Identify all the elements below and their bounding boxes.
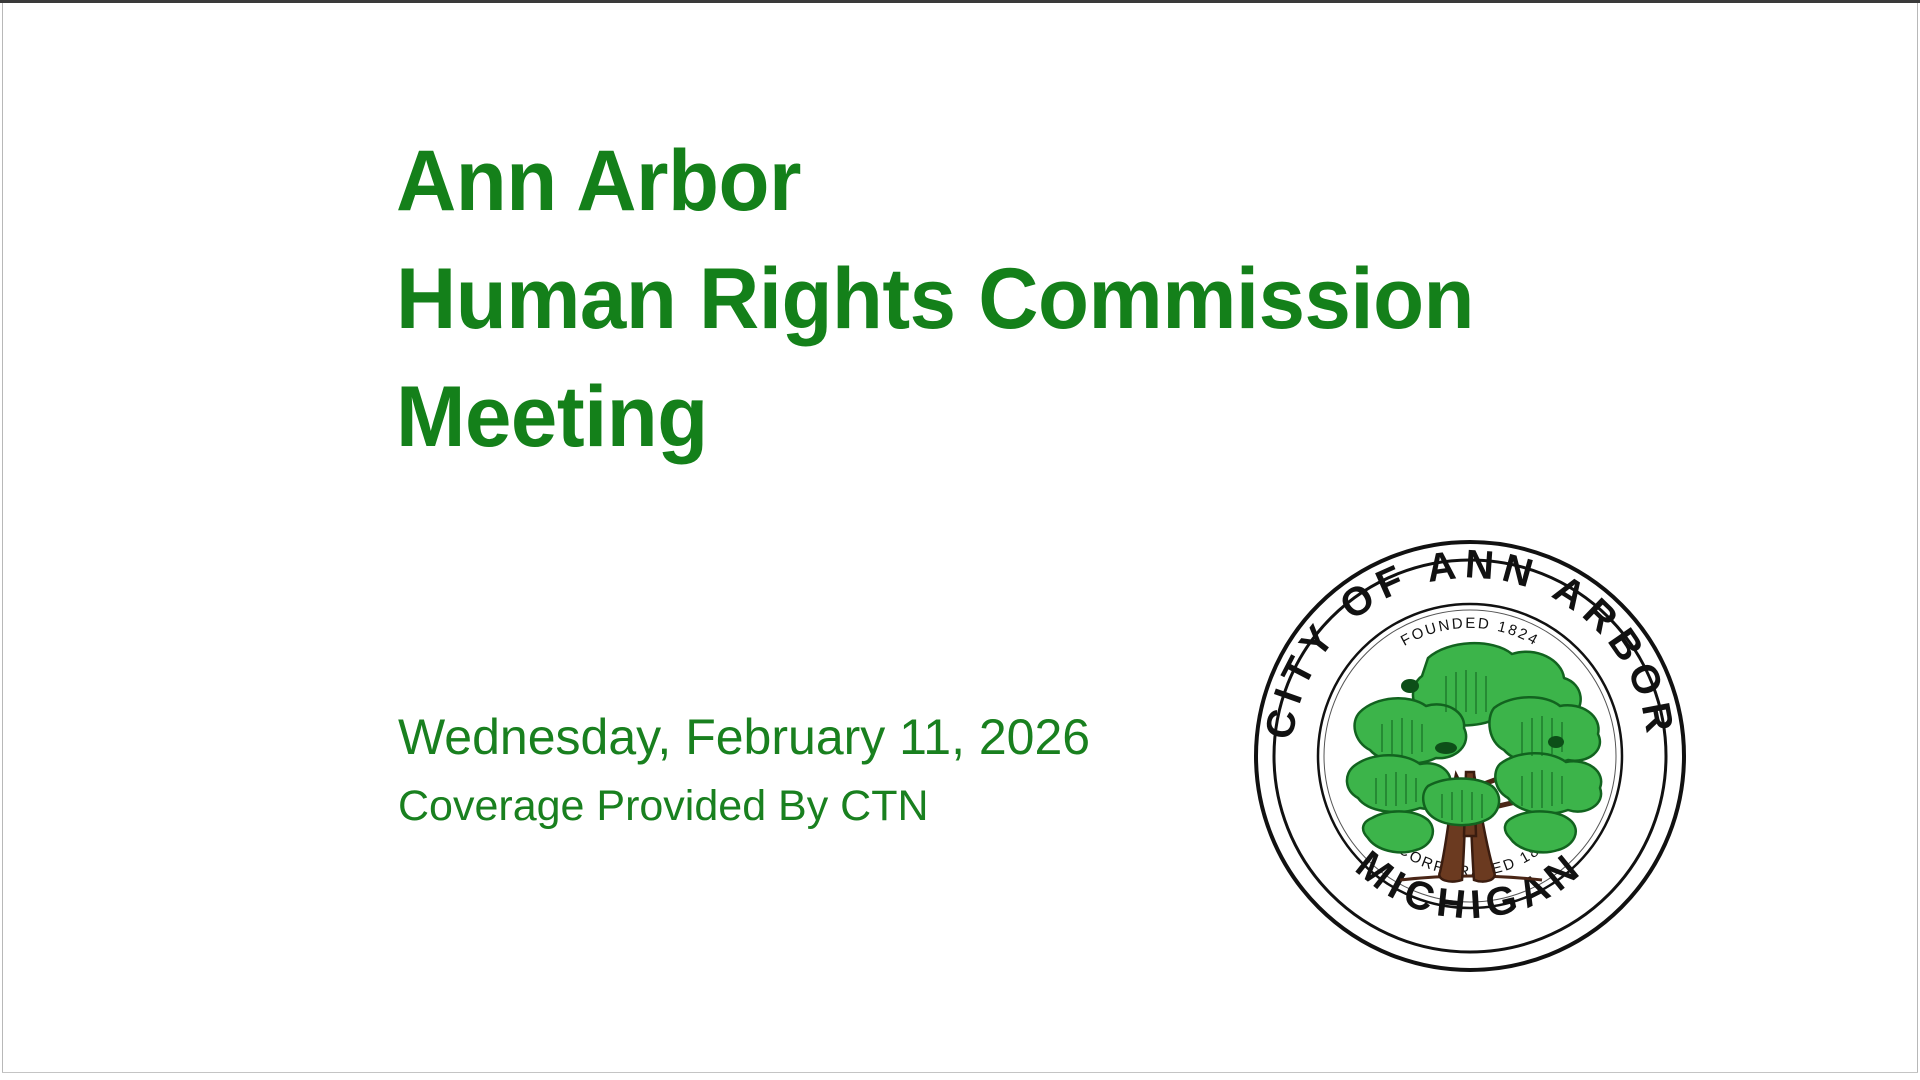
slide-frame-bottom-border [2,1072,1918,1073]
slide-subtitle: Wednesday, February 11, 2026 Coverage Pr… [398,700,1298,838]
coverage-credit: Coverage Provided By CTN [398,774,1298,838]
slide-title: Ann Arbor Human Rights Commission Meetin… [396,122,1836,476]
meeting-date: Wednesday, February 11, 2026 [398,700,1298,774]
slide-frame-left-border [2,3,3,1072]
title-line-2: Human Rights Commission [396,240,1793,358]
title-line-1: Ann Arbor [396,122,1793,240]
slide-frame-top-border [0,0,1920,3]
title-line-3: Meeting [396,358,1793,476]
presentation-slide: Ann Arbor Human Rights Commission Meetin… [0,0,1920,1080]
slide-frame-right-border [1917,3,1918,1072]
city-seal: CITY OF ANN ARBOR MICHIGAN FOUNDED 1824 … [1250,536,1690,976]
